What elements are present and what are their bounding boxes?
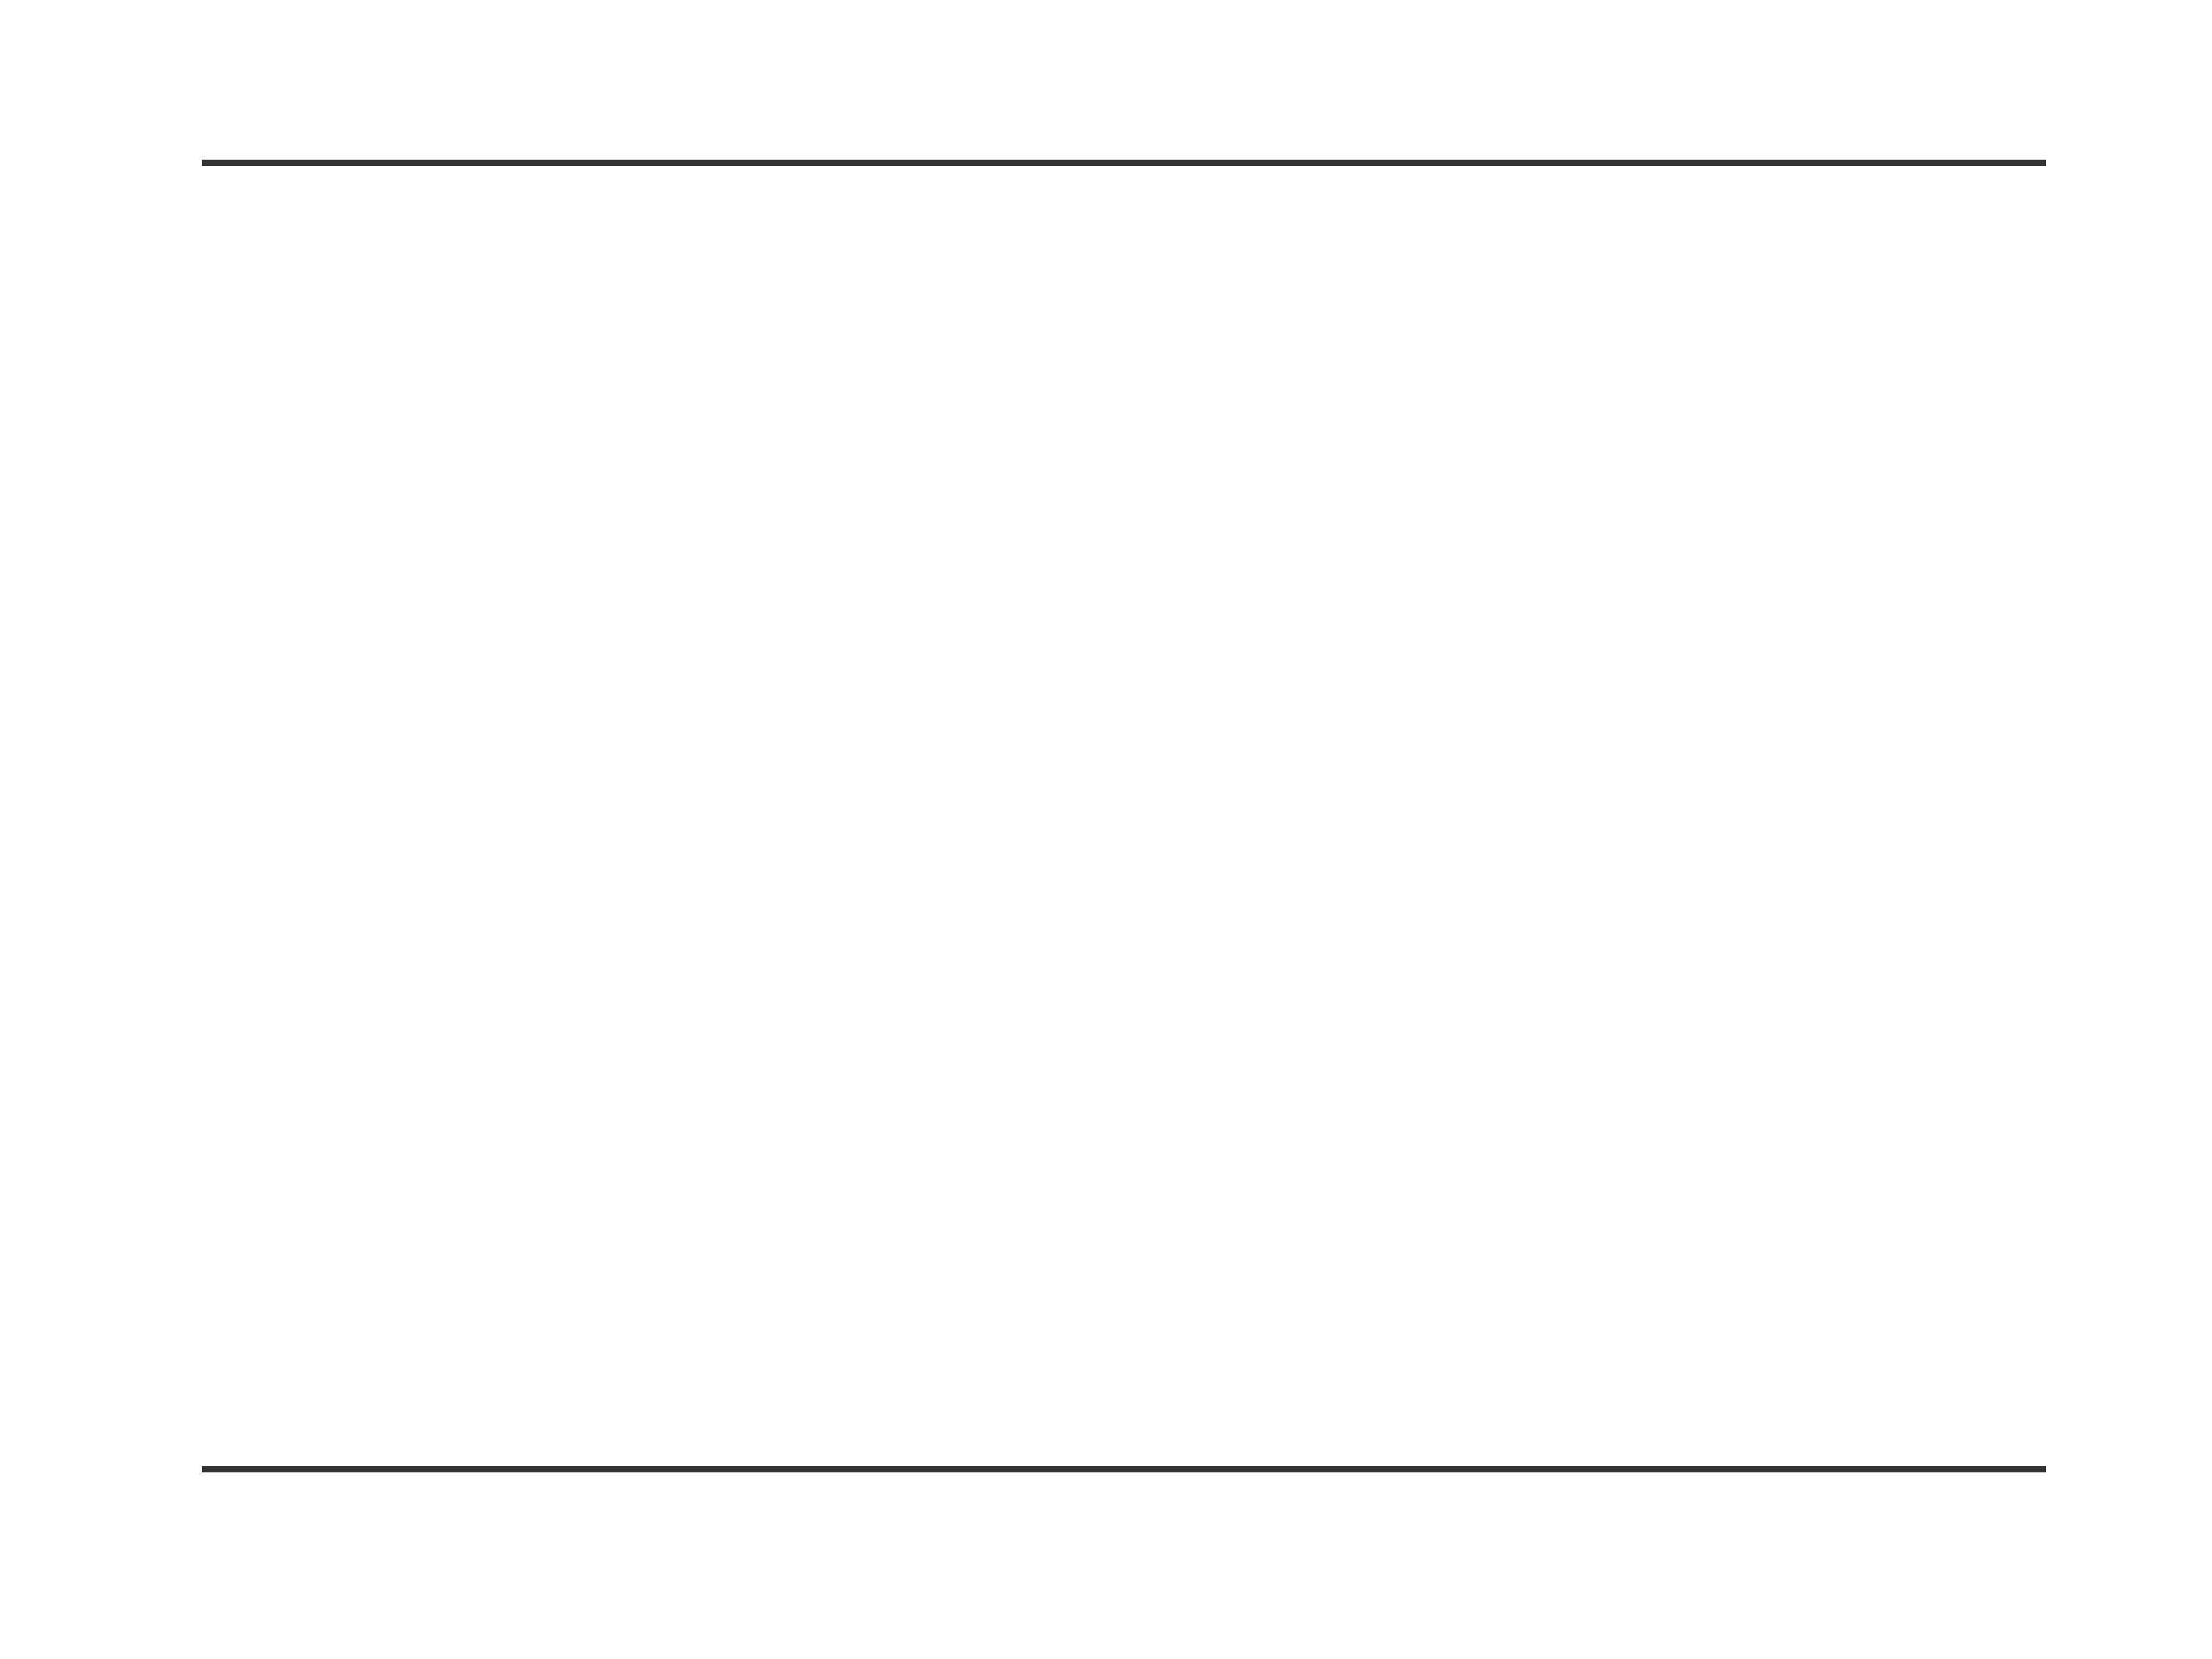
plot-area [202, 160, 2046, 1472]
